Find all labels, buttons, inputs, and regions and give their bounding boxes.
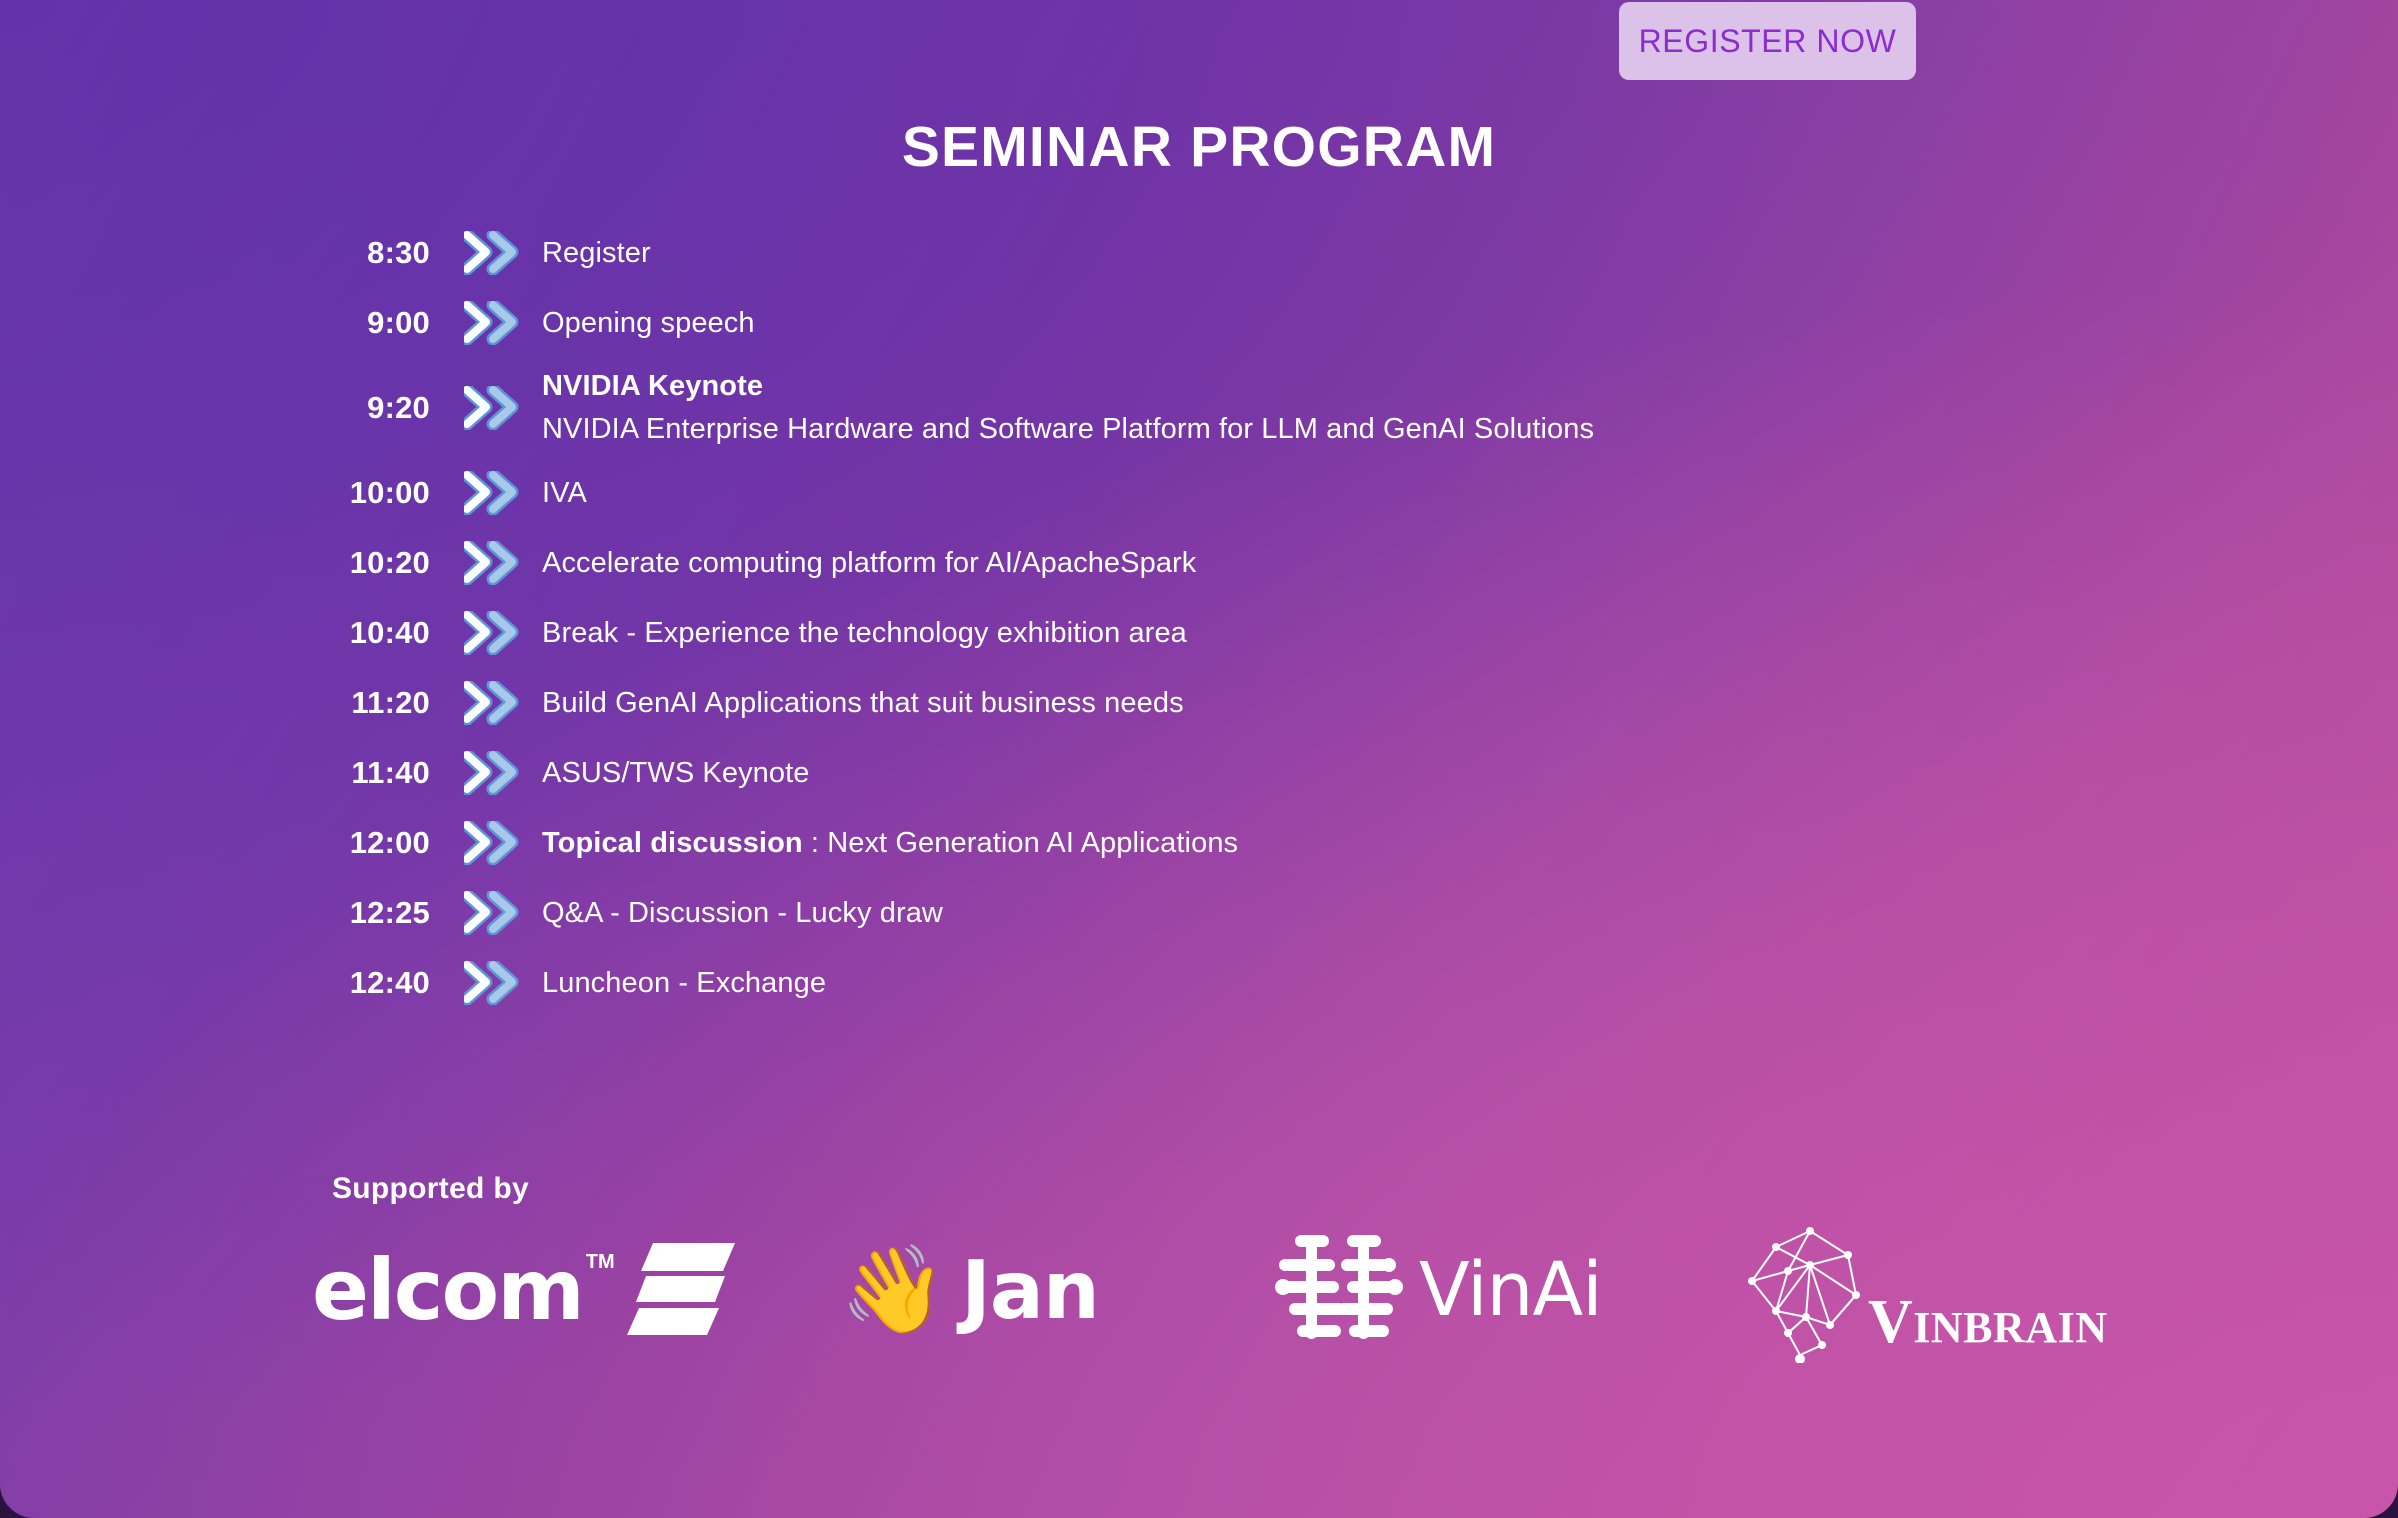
double-chevron-icon — [464, 891, 520, 935]
program-entry-title: Topical discussion — [542, 827, 803, 859]
brain-network-icon — [1730, 1213, 1890, 1368]
page-title: SEMINAR PROGRAM — [0, 114, 2398, 180]
program-time: 12:25 — [260, 895, 430, 931]
program-time: 12:40 — [260, 965, 430, 1001]
logo-elcom-wordmark: elcom — [312, 1248, 583, 1332]
double-chevron-icon — [464, 751, 520, 795]
program-entry-title: Break - Experience the technology exhibi… — [542, 617, 1187, 649]
program-entry: Break - Experience the technology exhibi… — [542, 614, 1187, 653]
program-entry: Build GenAI Applications that suit busin… — [542, 684, 1184, 723]
program-row: 8:30 Register — [0, 218, 2398, 288]
program-entry: ASUS/TWS Keynote — [542, 754, 810, 793]
program-time: 11:20 — [260, 685, 430, 721]
seminar-program-slide: REGISTER NOW SEMINAR PROGRAM 8:30 Regist… — [0, 0, 2398, 1518]
program-entry-title: ASUS/TWS Keynote — [542, 757, 810, 789]
program-entry: Opening speech — [542, 304, 755, 343]
program-entry-subtitle: NVIDIA Enterprise Hardware and Software … — [542, 410, 1594, 449]
program-row: 9:00 Opening speech — [0, 288, 2398, 358]
logo-elcom-tm: TM — [586, 1251, 615, 1274]
program-time: 10:20 — [260, 545, 430, 581]
vinai-circuit-icon — [1275, 1229, 1403, 1352]
program-entry-title: Register — [542, 237, 651, 269]
program-row: 10:40 Break - Experience the technology … — [0, 598, 2398, 668]
program-time: 11:40 — [260, 755, 430, 791]
program-entry: Register — [542, 234, 651, 273]
program-entry: Q&A - Discussion - Lucky draw — [542, 894, 943, 933]
double-chevron-icon — [464, 231, 520, 275]
double-chevron-icon — [464, 301, 520, 345]
waving-hand-icon: 👋 — [840, 1247, 947, 1333]
register-now-button[interactable]: REGISTER NOW — [1619, 2, 1916, 80]
double-chevron-icon — [464, 961, 520, 1005]
program-entry-title: Accelerate computing platform for AI/Apa… — [542, 547, 1196, 579]
logo-vinbrain-rest: INBRAIN — [1913, 1303, 2107, 1352]
logo-vinai: VinAi — [1275, 1215, 1602, 1365]
program-entry: Accelerate computing platform for AI/Apa… — [542, 544, 1196, 583]
program-time: 12:00 — [260, 825, 430, 861]
double-chevron-icon — [464, 541, 520, 585]
sponsor-logos: elcom TM 👋 Jan — [300, 1215, 2300, 1365]
program-row: 12:25 Q&A - Discussion - Lucky draw — [0, 878, 2398, 948]
double-chevron-icon — [464, 821, 520, 865]
program-row: 12:00 Topical discussion : Next Generati… — [0, 808, 2398, 878]
program-entry-title: IVA — [542, 477, 587, 509]
double-chevron-icon — [464, 471, 520, 515]
double-chevron-icon — [464, 386, 520, 430]
logo-jan-wordmark: Jan — [961, 1244, 1099, 1337]
program-entry-title: Q&A - Discussion - Lucky draw — [542, 897, 943, 929]
logo-vinai-wordmark: VinAi — [1419, 1247, 1602, 1333]
program-row: 10:20 Accelerate computing platform for … — [0, 528, 2398, 598]
program-time: 10:40 — [260, 615, 430, 651]
program-time: 9:20 — [260, 390, 430, 426]
program-entry-title: Opening speech — [542, 307, 755, 339]
logo-vinbrain: VINBRAIN — [1730, 1215, 2107, 1365]
program-entry: IVA — [542, 474, 587, 513]
program-schedule-list: 8:30 Register9:00 Opening speech9:20 NVI… — [0, 218, 2398, 1018]
program-entry-title-suffix: : Next Generation AI Applications — [803, 827, 1238, 859]
logo-jan: 👋 Jan — [840, 1215, 1099, 1365]
program-row: 11:40 ASUS/TWS Keynote — [0, 738, 2398, 808]
program-row: 9:20 NVIDIA KeynoteNVIDIA Enterprise Har… — [0, 358, 2398, 458]
program-time: 10:00 — [260, 475, 430, 511]
program-row: 11:20 Build GenAI Applications that suit… — [0, 668, 2398, 738]
double-chevron-icon — [464, 611, 520, 655]
program-time: 9:00 — [260, 305, 430, 341]
logo-vinbrain-initial: V — [1868, 1288, 1913, 1356]
double-chevron-icon — [464, 681, 520, 725]
elcom-e-mark-icon — [627, 1239, 735, 1342]
program-entry: Luncheon - Exchange — [542, 964, 826, 1003]
logo-elcom: elcom TM — [312, 1215, 735, 1365]
program-entry: Topical discussion : Next Generation AI … — [542, 824, 1238, 863]
program-entry-title: Luncheon - Exchange — [542, 967, 826, 999]
logo-vinbrain-wordmark: VINBRAIN — [1868, 1291, 2107, 1353]
program-entry-title: Build GenAI Applications that suit busin… — [542, 687, 1184, 719]
supported-by-label: Supported by — [332, 1172, 529, 1206]
program-entry-title: NVIDIA Keynote — [542, 367, 1594, 406]
program-row: 10:00 IVA — [0, 458, 2398, 528]
program-time: 8:30 — [260, 235, 430, 271]
program-entry: NVIDIA KeynoteNVIDIA Enterprise Hardware… — [542, 367, 1594, 449]
program-row: 12:40 Luncheon - Exchange — [0, 948, 2398, 1018]
